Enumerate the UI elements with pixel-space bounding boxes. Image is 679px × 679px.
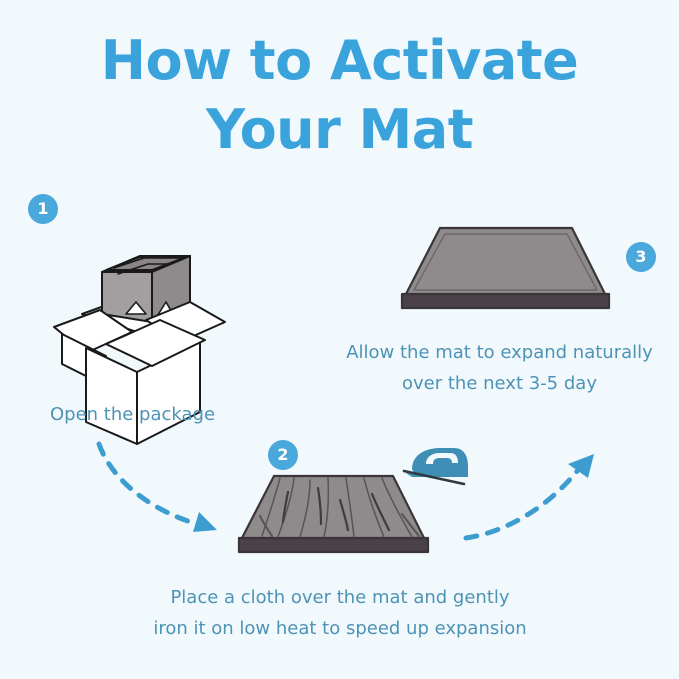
step-1-caption: Open the package	[0, 400, 265, 431]
step-badge-2: 2	[268, 440, 298, 470]
step-3-caption: Allow the mat to expand naturally over t…	[320, 338, 679, 400]
page-title: How to Activate Your Mat	[0, 26, 679, 164]
expanded-mat-icon	[398, 218, 613, 328]
arrow-step2-to-step3-icon	[460, 440, 610, 550]
title-line-2: Your Mat	[0, 95, 679, 164]
step-badge-3: 3	[626, 242, 656, 272]
step-badge-1: 1	[28, 194, 58, 224]
step-2-caption: Place a cloth over the mat and gently ir…	[70, 583, 610, 645]
open-box-icon	[40, 222, 235, 392]
title-line-1: How to Activate	[101, 29, 578, 92]
infographic-canvas: How to Activate Your Mat 1 2 3	[0, 0, 679, 679]
arrow-step1-to-step2-icon	[95, 440, 240, 540]
